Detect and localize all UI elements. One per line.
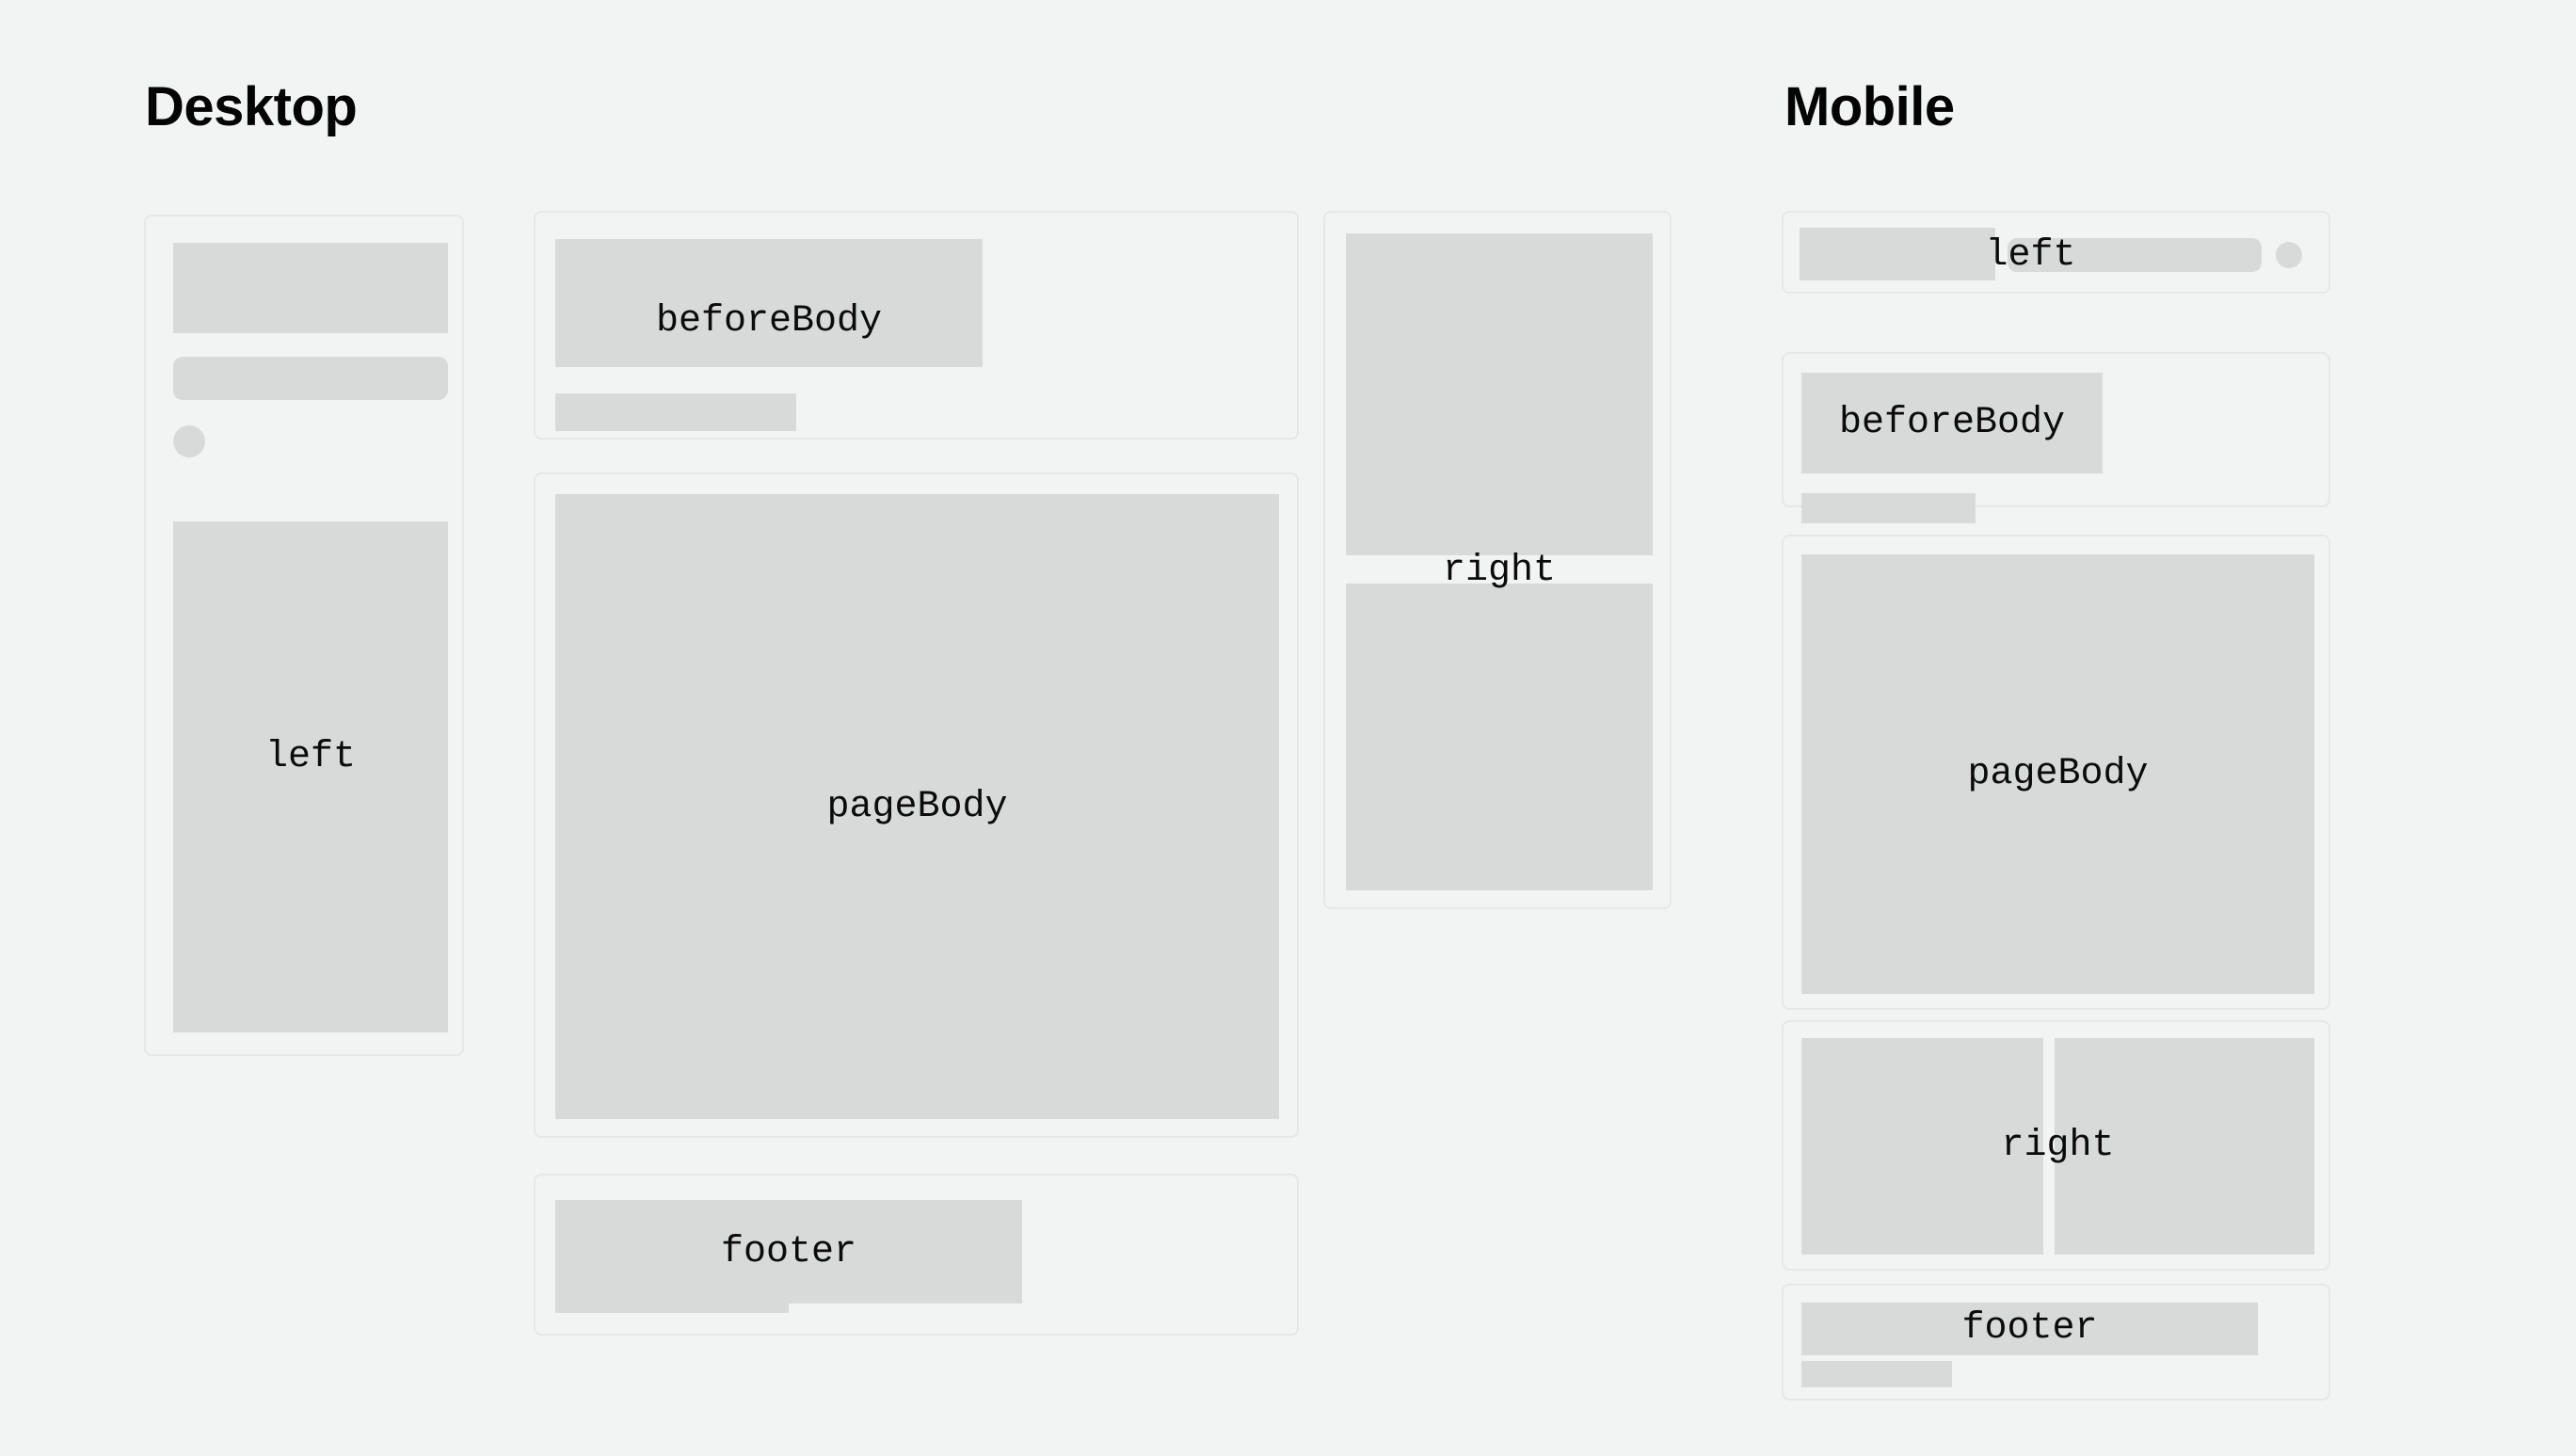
skeleton-block <box>173 243 448 333</box>
skeleton-block <box>2008 238 2262 272</box>
mobile-pagebody-panel[interactable]: pageBody <box>1782 535 2330 1010</box>
skeleton-block <box>555 494 1279 1119</box>
skeleton-block <box>2055 1038 2314 1255</box>
mobile-left-panel[interactable]: left <box>1782 211 2330 294</box>
skeleton-block <box>1346 584 1653 890</box>
desktop-pagebody-panel[interactable]: pageBody <box>534 472 1299 1138</box>
skeleton-block <box>1800 228 1995 280</box>
mobile-footer-panel[interactable]: footer <box>1782 1284 2330 1400</box>
desktop-section-title: Desktop <box>145 80 357 135</box>
skeleton-block <box>1801 1361 1952 1387</box>
mobile-section-title: Mobile <box>1784 80 1955 135</box>
mobile-beforebody-panel[interactable]: beforeBody <box>1782 352 2330 507</box>
desktop-left-panel[interactable]: left <box>144 215 464 1056</box>
mobile-right-panel[interactable]: right <box>1782 1020 2330 1271</box>
desktop-right-panel[interactable]: right <box>1323 211 1672 909</box>
skeleton-block <box>1801 554 2314 994</box>
skeleton-block <box>555 1277 789 1313</box>
skeleton-block <box>1801 373 2103 473</box>
skeleton-block <box>1346 233 1653 555</box>
skeleton-block <box>173 357 448 400</box>
desktop-footer-panel[interactable]: footer <box>534 1174 1299 1336</box>
skeleton-block <box>173 521 448 1032</box>
skeleton-block <box>1801 493 1976 523</box>
skeleton-block <box>1801 1303 2258 1355</box>
skeleton-block <box>555 393 796 431</box>
skeleton-block <box>1801 1038 2043 1255</box>
layout-preview-stage: Desktop left beforeBody pageBody right f… <box>0 0 2576 1456</box>
skeleton-avatar-circle <box>2276 242 2302 268</box>
skeleton-avatar-circle <box>173 425 205 457</box>
desktop-beforebody-panel[interactable]: beforeBody <box>534 211 1299 440</box>
skeleton-block <box>555 239 983 367</box>
